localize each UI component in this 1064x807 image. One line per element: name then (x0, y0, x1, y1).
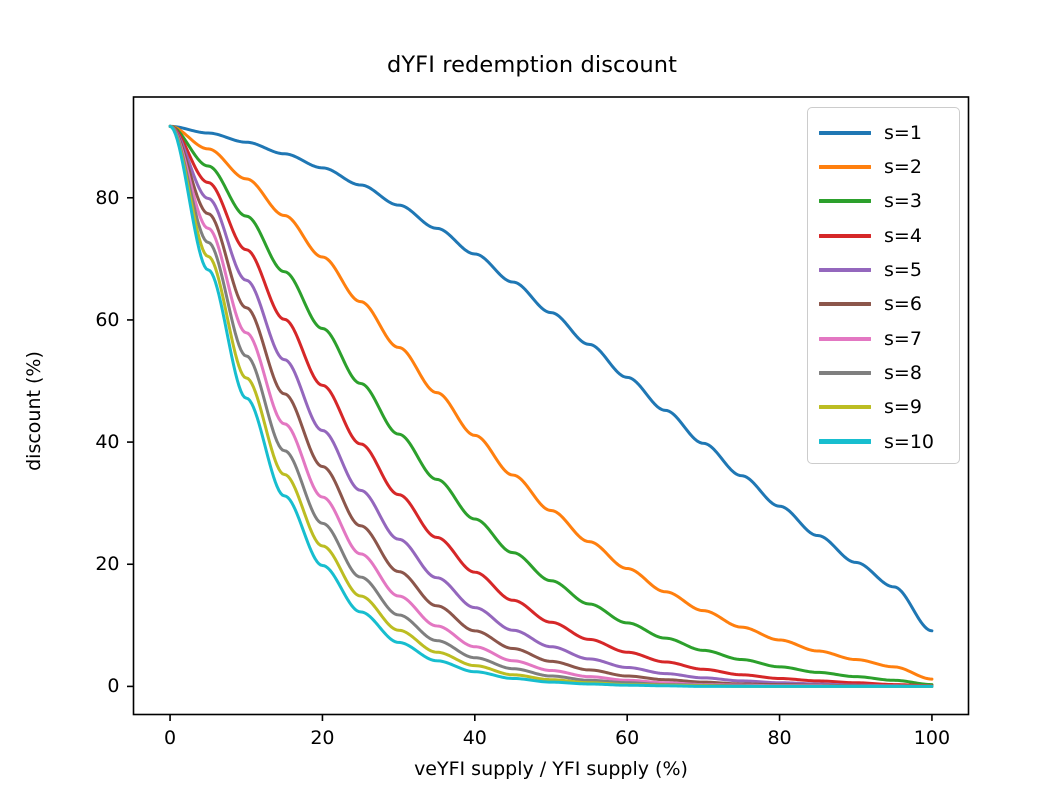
x-tick-label: 100 (914, 727, 950, 749)
matplotlib-figure: dYFI redemption discount discount (%) ve… (0, 0, 1064, 807)
x-tick-label: 0 (164, 727, 176, 749)
x-tick-label: 60 (615, 727, 639, 749)
legend-color-swatch (819, 165, 871, 169)
legend-item-s5[interactable]: s=5 (808, 252, 959, 288)
y-axis-label: discount (%) (23, 271, 45, 551)
legend: s=1s=2s=3s=4s=5s=6s=7s=8s=9s=10 (807, 107, 960, 464)
legend-label: s=10 (884, 431, 934, 453)
legend-color-swatch (819, 234, 871, 238)
legend-label: s=5 (884, 259, 922, 281)
legend-label: s=6 (884, 293, 922, 315)
legend-item-s10[interactable]: s=10 (808, 424, 959, 460)
y-tick-label: 20 (62, 553, 120, 575)
x-tick-label: 20 (310, 727, 334, 749)
y-tick-label: 80 (62, 187, 120, 209)
legend-item-s9[interactable]: s=9 (808, 389, 959, 425)
y-tick-label: 60 (62, 309, 120, 331)
x-tick-label: 40 (463, 727, 487, 749)
legend-item-s4[interactable]: s=4 (808, 218, 959, 254)
legend-color-swatch (819, 131, 871, 135)
legend-color-swatch (819, 405, 871, 409)
legend-color-swatch (819, 199, 871, 203)
legend-label: s=4 (884, 225, 922, 247)
legend-label: s=2 (884, 156, 922, 178)
legend-item-s1[interactable]: s=1 (808, 115, 959, 151)
y-tick-label: 40 (62, 431, 120, 453)
legend-item-s6[interactable]: s=6 (808, 287, 959, 323)
legend-color-swatch (819, 302, 871, 306)
legend-item-s3[interactable]: s=3 (808, 184, 959, 220)
legend-label: s=8 (884, 362, 922, 384)
legend-item-s8[interactable]: s=8 (808, 355, 959, 391)
legend-item-s7[interactable]: s=7 (808, 321, 959, 357)
legend-color-swatch (819, 371, 871, 375)
legend-label: s=7 (884, 328, 922, 350)
legend-color-swatch (819, 337, 871, 341)
x-tick-label: 80 (767, 727, 791, 749)
x-axis-label: veYFI supply / YFI supply (%) (133, 758, 969, 780)
legend-item-s2[interactable]: s=2 (808, 149, 959, 185)
legend-color-swatch (819, 268, 871, 272)
legend-color-swatch (819, 439, 871, 443)
legend-label: s=1 (884, 122, 922, 144)
y-tick-label: 0 (62, 675, 120, 697)
legend-label: s=3 (884, 190, 922, 212)
legend-label: s=9 (884, 396, 922, 418)
